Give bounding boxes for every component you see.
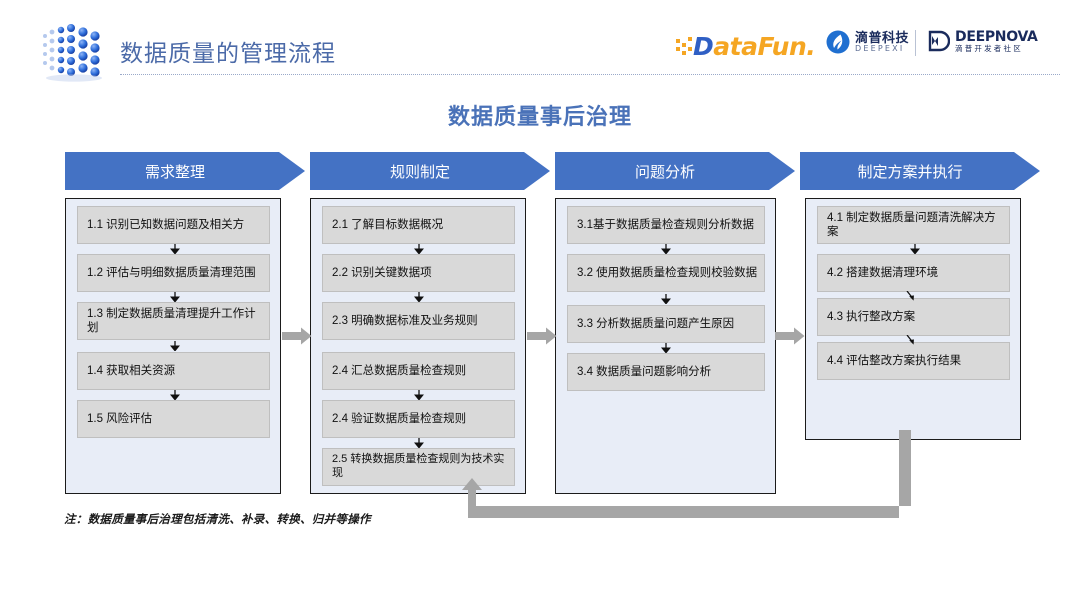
step-1-2[interactable]: 1.2 评估与明细数据质量清理范围	[77, 254, 270, 292]
down-arrow-icon	[659, 244, 673, 254]
down-arrow-icon	[412, 390, 426, 400]
right-arrow-icon	[775, 327, 805, 345]
down-arrow-icon	[908, 244, 922, 254]
step-3-1[interactable]: 3.1基于数据质量检查规则分析数据	[567, 206, 765, 244]
step-2-4[interactable]: 2.4 汇总数据质量检查规则	[322, 352, 515, 390]
column-header-2[interactable]: 问题分析	[555, 152, 795, 190]
step-4-3[interactable]: 4.3 执行整改方案	[817, 298, 1010, 336]
down-arrow-icon	[168, 390, 182, 400]
right-arrow-icon	[527, 327, 557, 345]
step-4-4[interactable]: 4.4 评估整改方案执行结果	[817, 342, 1010, 380]
down-arrow-icon	[412, 244, 426, 254]
step-2-1[interactable]: 2.1 了解目标数据概况	[322, 206, 515, 244]
column-header-1[interactable]: 规则制定	[310, 152, 550, 190]
step-4-1[interactable]: 4.1 制定数据质量问题清洗解决方案	[817, 206, 1010, 244]
step-1-3[interactable]: 1.3 制定数据质量清理提升工作计划	[77, 302, 270, 340]
down-arrow-icon	[659, 343, 673, 353]
step-1-4[interactable]: 1.4 获取相关资源	[77, 352, 270, 390]
down-arrow-icon	[659, 294, 673, 304]
column-header-3[interactable]: 制定方案并执行	[800, 152, 1040, 190]
step-3-3[interactable]: 3.3 分析数据质量问题产生原因	[567, 305, 765, 343]
step-2-2[interactable]: 2.2 识别关键数据项	[322, 254, 515, 292]
step-1-1[interactable]: 1.1 识别已知数据问题及相关方	[77, 206, 270, 244]
down-arrow-diagonal-icon	[904, 291, 918, 301]
step-4-2[interactable]: 4.2 搭建数据清理环境	[817, 254, 1010, 292]
down-arrow-icon	[168, 244, 182, 254]
right-arrow-icon	[282, 327, 312, 345]
down-arrow-icon	[412, 438, 426, 448]
feedback-loop-arrow-icon	[440, 430, 940, 530]
column-header-0[interactable]: 需求整理	[65, 152, 305, 190]
step-3-4[interactable]: 3.4 数据质量问题影响分析	[567, 353, 765, 391]
down-arrow-icon	[168, 341, 182, 351]
down-arrow-diagonal-icon	[904, 335, 918, 345]
step-2-3[interactable]: 2.3 明确数据标准及业务规则	[322, 302, 515, 340]
step-3-2[interactable]: 3.2 使用数据质量检查规则校验数据	[567, 254, 765, 292]
down-arrow-icon	[168, 292, 182, 302]
down-arrow-icon	[412, 292, 426, 302]
footnote: 注：数据质量事后治理包括清洗、补录、转换、归并等操作	[64, 511, 371, 527]
step-1-5[interactable]: 1.5 风险评估	[77, 400, 270, 438]
